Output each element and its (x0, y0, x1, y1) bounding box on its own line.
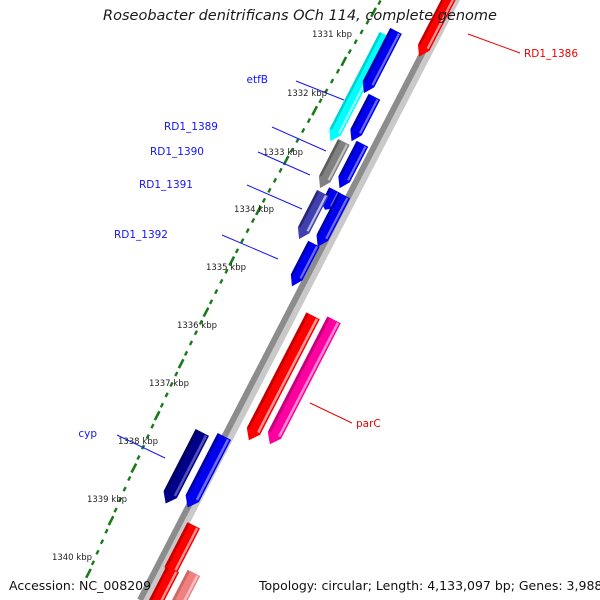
tick-mark (128, 477, 130, 481)
gene-label-RD1_1391[interactable]: RD1_1391 (139, 179, 193, 191)
tick-mark (247, 229, 249, 233)
tick-mark (86, 569, 91, 578)
axis-tick-label: 1335 kbp (206, 263, 246, 273)
tick-mark (161, 403, 163, 407)
tick-mark (241, 239, 243, 243)
tick-mark (236, 249, 238, 253)
tick-mark (337, 69, 339, 73)
tick-mark (109, 516, 114, 525)
gene-label-parC[interactable]: parC (356, 418, 381, 430)
tick-mark (190, 341, 192, 345)
gene-label-cyp[interactable]: cyp (78, 428, 97, 440)
tick-mark (115, 508, 117, 512)
tick-mark (105, 529, 107, 533)
axis-tick-label: 1331 kbp (312, 30, 352, 40)
tick-mark (263, 198, 265, 202)
axis-tick-label: 1339 kbp (87, 495, 127, 505)
genome-map-canvas[interactable]: 1331 kbp1332 kbp1333 kbp1334 kbp1335 kbp… (0, 0, 600, 600)
tick-mark (361, 30, 363, 34)
tick-mark (319, 99, 321, 103)
tick-mark (204, 308, 209, 317)
tick-mark (308, 119, 310, 123)
tick-mark (215, 290, 217, 294)
leader-line-RD1_1386 (468, 34, 520, 53)
tick-mark (302, 128, 304, 132)
gene-label-etfB[interactable]: etfB (247, 74, 268, 86)
axis-tick-label: 1334 kbp (234, 205, 274, 215)
axis-tick-label: 1333 kbp (263, 148, 303, 158)
page-title: Roseobacter denitrificans OCh 114, compl… (103, 8, 497, 24)
axis-tick-label: 1337 kbp (149, 379, 189, 389)
tick-mark (124, 487, 126, 491)
tick-mark (378, 0, 380, 4)
genome-map-viewer[interactable]: 1331 kbp1332 kbp1333 kbp1334 kbp1335 kbp… (0, 0, 600, 600)
axis-tick-label: 1338 kbp (118, 437, 158, 447)
tick-mark (279, 168, 281, 172)
leader-line-parC (310, 403, 352, 423)
tick-mark (179, 359, 184, 368)
tick-mark (132, 464, 137, 473)
tick-mark (92, 561, 94, 565)
tick-mark (185, 351, 187, 355)
tick-mark (195, 331, 197, 335)
tick-mark (349, 50, 351, 54)
axis-tick-label: 1336 kbp (177, 321, 217, 331)
tick-mark (96, 550, 98, 554)
tick-mark (137, 456, 139, 460)
tick-mark (252, 218, 254, 222)
tick-mark (331, 79, 333, 83)
gene-label-RD1_1386[interactable]: RD1_1386 (524, 48, 578, 60)
tick-mark (342, 57, 347, 66)
tick-mark (220, 279, 222, 283)
tick-mark (151, 424, 153, 428)
tick-mark (166, 393, 168, 397)
leader-line-RD1_1392 (222, 235, 278, 259)
tick-mark (274, 178, 276, 182)
tick-mark (155, 411, 160, 420)
tick-mark (175, 372, 177, 376)
tick-mark (355, 40, 357, 44)
gene-label-RD1_1389[interactable]: RD1_1389 (164, 121, 218, 133)
gene-label-RD1_1390[interactable]: RD1_1390 (150, 146, 204, 158)
axis-tick-label: 1332 kbp (287, 89, 327, 99)
tick-mark (210, 300, 212, 304)
axis-tick-label: 1340 kbp (52, 553, 92, 563)
tick-mark (268, 188, 270, 192)
tick-mark (101, 540, 103, 544)
gene-label-RD1_1392[interactable]: RD1_1392 (114, 229, 168, 241)
tick-mark (312, 106, 317, 115)
